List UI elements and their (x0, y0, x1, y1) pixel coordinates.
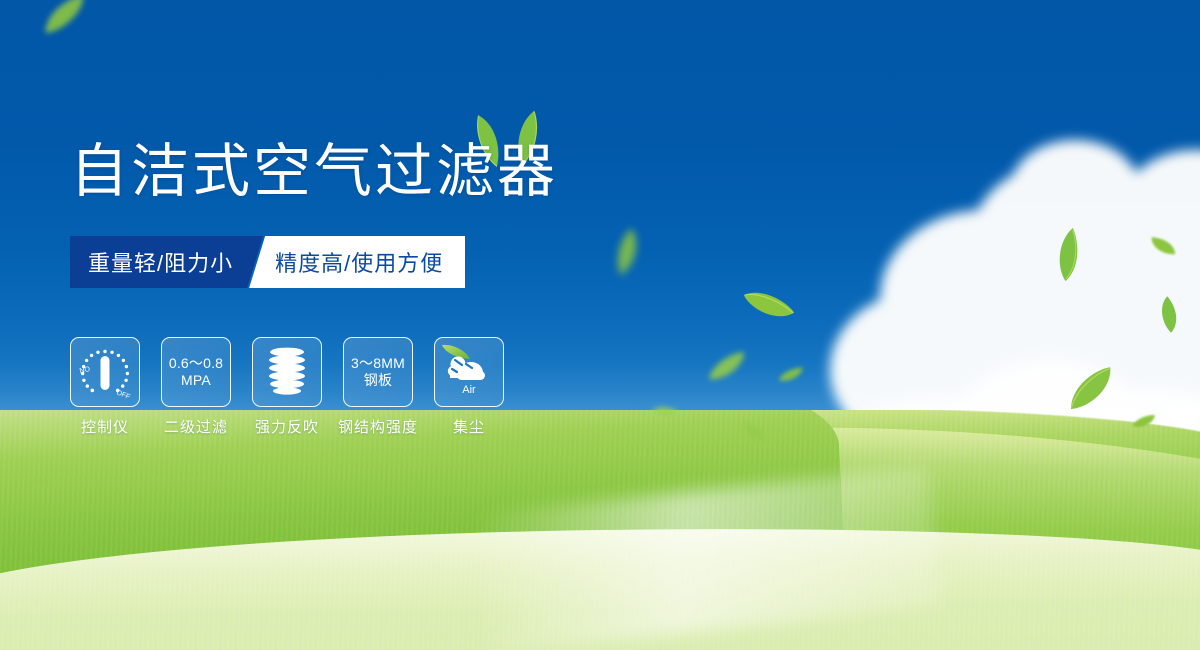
filter-stack-icon (261, 344, 313, 400)
pressure-text-icon: 0.6～0.8 MPA (169, 355, 223, 390)
feature-text-line1: 0.6～0.8 (169, 355, 223, 371)
subtitle-segment-right: 精度高/使用方便 (249, 236, 465, 288)
feature-icon-box: Air (434, 337, 504, 407)
feature-item-strong-blowback[interactable]: 强力反吹 (252, 337, 322, 437)
feature-caption: 强力反吹 (255, 416, 319, 437)
feature-item-two-stage-filter[interactable]: 0.6～0.8 MPA 二级过滤 (161, 337, 231, 437)
grass-texture (0, 410, 1200, 650)
feature-text-line2: 钢板 (351, 372, 405, 390)
svg-text:NO: NO (79, 366, 91, 375)
feature-icon-box: 3～8MM 钢板 (343, 337, 413, 407)
cloud-air-icon: Air (440, 344, 498, 400)
dial-switch-icon: NO OFF (76, 344, 134, 400)
feature-caption: 集尘 (453, 416, 485, 437)
feature-icon-box: NO OFF (70, 337, 140, 407)
feature-icon-box (252, 337, 322, 407)
feature-item-control-dial[interactable]: NO OFF 控制仪 (70, 337, 140, 437)
feature-caption: 二级过滤 (164, 416, 228, 437)
feature-text-line1: 3～8MM (351, 355, 405, 371)
page-title: 自洁式空气过滤器 (70, 143, 558, 201)
feature-list: NO OFF 控制仪 0.6～0.8 MPA 二级过滤 (70, 337, 504, 437)
feature-text-line2: MPA (169, 372, 223, 390)
grass-field (0, 410, 1200, 650)
steel-plate-text-icon: 3～8MM 钢板 (351, 355, 405, 390)
feature-icon-box: 0.6～0.8 MPA (161, 337, 231, 407)
cloud-air-label: Air (462, 384, 476, 396)
feature-item-steel-strength[interactable]: 3～8MM 钢板 钢结构强度 (343, 337, 413, 437)
feature-item-dust-collection[interactable]: Air 集尘 (434, 337, 504, 437)
svg-text:OFF: OFF (115, 389, 131, 400)
product-banner: 自洁式空气过滤器 重量轻/阻力小 精度高/使用方便 (0, 0, 1200, 650)
feature-caption: 钢结构强度 (338, 416, 418, 437)
feature-caption: 控制仪 (81, 416, 129, 437)
subtitle-segment-left: 重量轻/阻力小 (70, 236, 263, 288)
subtitle-bar: 重量轻/阻力小 精度高/使用方便 (70, 236, 465, 288)
